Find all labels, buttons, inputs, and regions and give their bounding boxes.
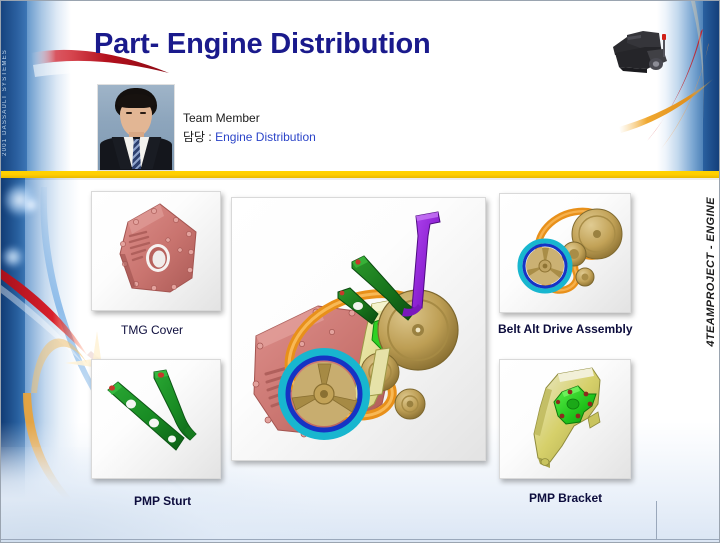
main-assembly-panel[interactable]: [231, 197, 486, 461]
team-member-role-value: Engine Distribution: [215, 130, 316, 144]
right-blue-band-edge: [703, 1, 719, 173]
bottom-rule: [1, 539, 720, 540]
tmg-cover-render: [92, 192, 220, 310]
part-panel-pmp-bracket[interactable]: [499, 359, 631, 479]
belt-alt-drive-assembly-render: [500, 194, 630, 312]
lens-glow-small-icon: [23, 197, 39, 213]
portrait-eye-left: [126, 112, 132, 114]
project-vertical-label: 4TEAMPROJECT - ENGINE: [705, 197, 717, 347]
part-label-pmp-bracket: PMP Bracket: [529, 491, 602, 505]
part-label-belt-alt-drive: Belt Alt Drive Assembly: [498, 322, 633, 336]
presentation-slide: 2001 DASSAULT SYSTEMES 4TEAMPROJECT - EN…: [0, 0, 720, 543]
part-panel-belt-alt-drive[interactable]: [499, 193, 631, 313]
engine-block-photo: [597, 25, 682, 81]
team-member-heading: Team Member: [183, 111, 260, 125]
page-title: Part- Engine Distribution: [94, 28, 431, 61]
yellow-divider-shadow: [1, 178, 720, 180]
team-member-role-label: 담당 :: [183, 130, 212, 144]
part-label-tmg-cover: TMG Cover: [121, 323, 183, 337]
team-member-photo: [98, 85, 174, 170]
copyright-watermark: 2001 DASSAULT SYSTEMES: [2, 49, 8, 156]
bottom-vertical-rule: [656, 501, 657, 539]
pmp-bracket-render: [500, 360, 630, 478]
pmp-sturt-render: [92, 360, 220, 478]
part-panel-tmg-cover[interactable]: [91, 191, 221, 311]
portrait-fringe: [117, 94, 155, 108]
portrait-eye-right: [140, 112, 146, 114]
team-member-role: 담당 : Engine Distribution: [183, 128, 316, 145]
part-panel-pmp-sturt[interactable]: [91, 359, 221, 479]
yellow-divider-band: [1, 171, 720, 178]
lens-glow-lower-icon: [2, 246, 24, 268]
engine-distribution-assembly-render: [232, 198, 485, 460]
part-label-pmp-sturt: PMP Sturt: [134, 494, 191, 508]
